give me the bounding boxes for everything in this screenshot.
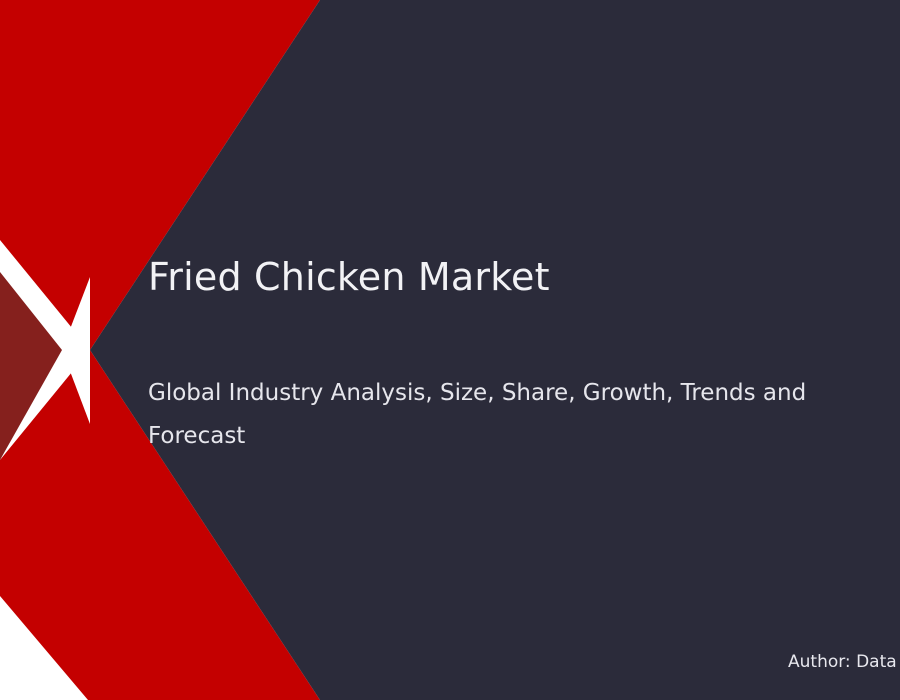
title-slide: Fried Chicken Market Global Industry Ana… xyxy=(0,0,900,700)
page-subtitle: Global Industry Analysis, Size, Share, G… xyxy=(148,372,808,458)
author-label: Author: Data xyxy=(788,652,897,672)
page-title: Fried Chicken Market xyxy=(148,255,550,301)
text-layer: Fried Chicken Market Global Industry Ana… xyxy=(0,0,900,700)
